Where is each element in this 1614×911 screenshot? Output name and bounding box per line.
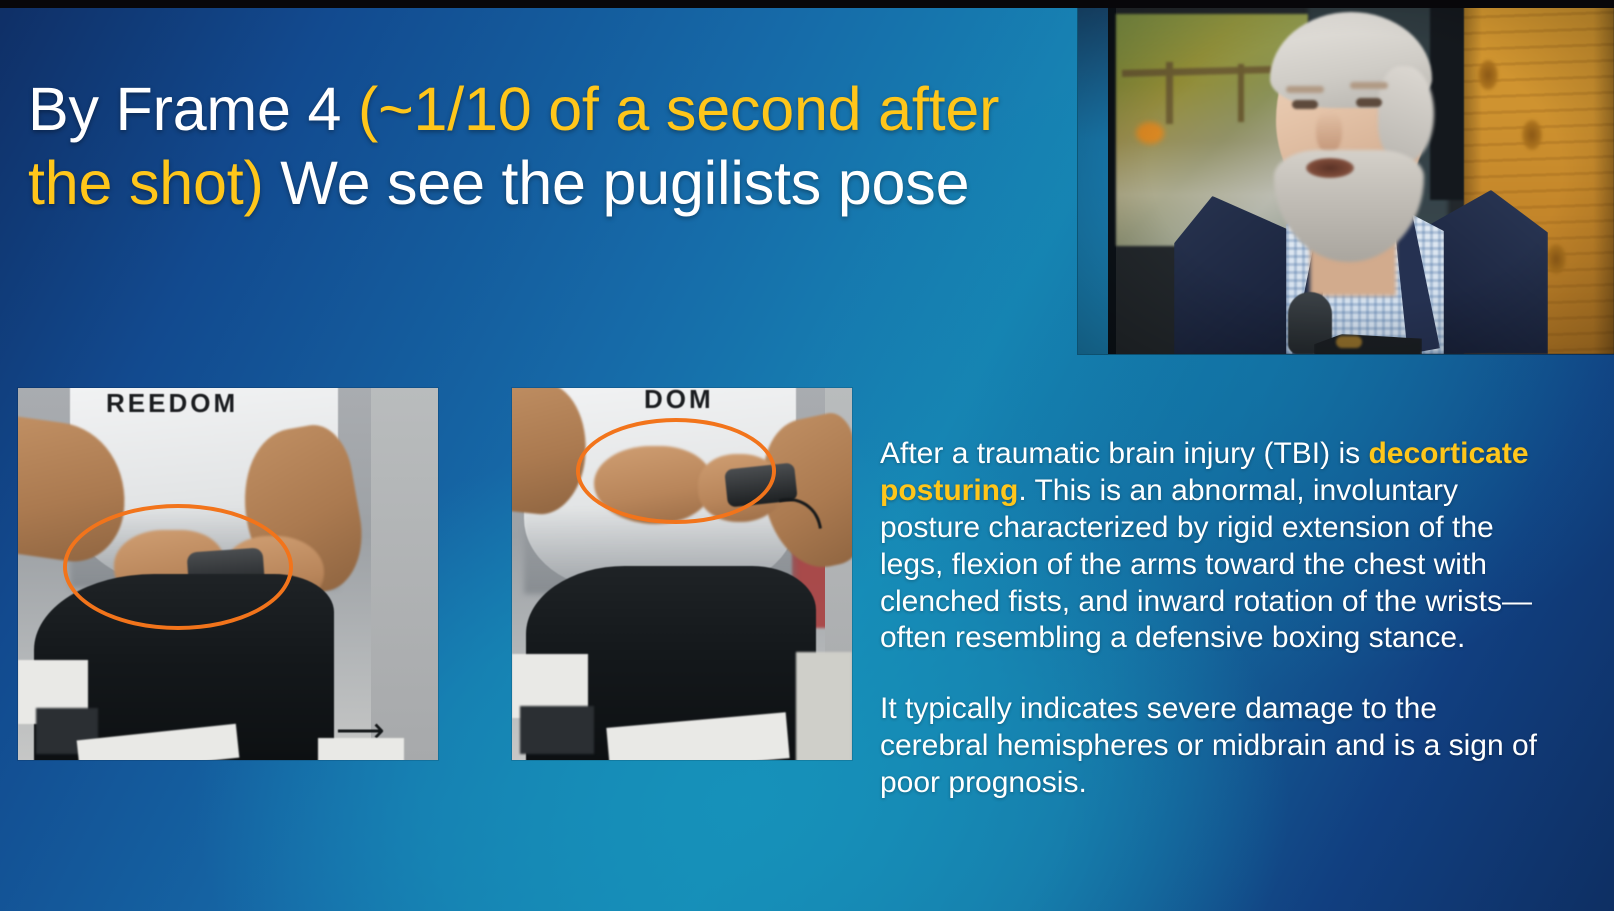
photo-frame-wide: REEDOM ⟶ bbox=[18, 388, 438, 760]
desk-object bbox=[520, 706, 594, 754]
slide-canvas: By Frame 4 (~1/10 of a second after the … bbox=[0, 0, 1614, 911]
body-text-block: After a traumatic brain injury (TBI) is … bbox=[880, 436, 1540, 802]
photo-background-right bbox=[371, 388, 438, 760]
shirt-text: DOM bbox=[644, 388, 714, 415]
speaker-video-overlay[interactable] bbox=[1078, 0, 1614, 354]
paragraph-prognosis: It typically indicates severe damage to … bbox=[880, 691, 1540, 802]
paragraph-decorticate-posturing: After a traumatic brain injury (TBI) is … bbox=[880, 436, 1540, 657]
desk-surface bbox=[796, 652, 852, 760]
paper-sheet-right bbox=[318, 738, 404, 760]
photo-frame-zoom: DOM bbox=[512, 388, 852, 760]
video-vignette bbox=[1078, 0, 1614, 354]
title-part-white-1: By Frame 4 bbox=[28, 75, 358, 143]
top-black-strip bbox=[0, 0, 1614, 8]
shirt-text: REEDOM bbox=[106, 388, 238, 419]
page-title: By Frame 4 (~1/10 of a second after the … bbox=[28, 72, 1048, 221]
paragraph1-lead: After a traumatic brain injury (TBI) is bbox=[880, 437, 1368, 470]
annotation-ellipse-hands-right bbox=[576, 418, 776, 524]
title-part-white-2: We see the pugilists pose bbox=[264, 149, 970, 217]
annotation-ellipse-hands-left bbox=[63, 504, 293, 630]
